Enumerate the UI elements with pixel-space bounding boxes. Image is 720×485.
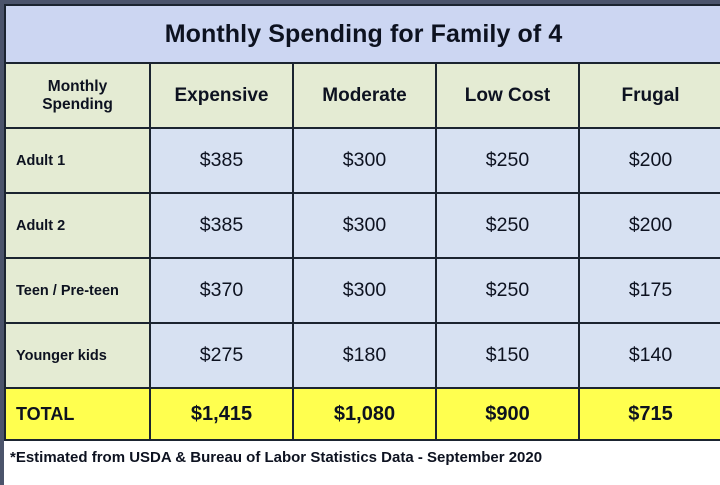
- cell-value: $200: [629, 149, 672, 171]
- header-cell-frugal: Frugal: [579, 63, 720, 128]
- cell-value: $370: [200, 279, 243, 301]
- cell-adult-2-expensive: $385: [150, 193, 293, 258]
- cell-value: $385: [200, 214, 243, 236]
- cell-value: $300: [343, 214, 386, 236]
- cell-younger-kids-low-cost: $150: [436, 323, 579, 388]
- table-total-row: TOTAL $1,415 $1,080 $900 $715: [5, 388, 720, 440]
- page-title: Monthly Spending for Family of 4: [165, 20, 563, 48]
- cell-younger-kids-moderate: $180: [293, 323, 436, 388]
- corner-header-line1: Monthly: [48, 78, 107, 95]
- row-label-text: Adult 1: [6, 153, 149, 169]
- table-title-row: Monthly Spending for Family of 4: [5, 5, 720, 63]
- table-row: Younger kids $275 $180 $150 $140: [5, 323, 720, 388]
- cell-value: $140: [629, 344, 672, 366]
- cell-adult-2-frugal: $200: [579, 193, 720, 258]
- cell-value: $250: [486, 279, 529, 301]
- corner-header-line2: Spending: [42, 96, 113, 113]
- header-label-moderate: Moderate: [322, 85, 406, 106]
- row-label-text: Younger kids: [6, 348, 149, 364]
- cell-value: $180: [343, 344, 386, 366]
- header-label-low-cost: Low Cost: [465, 85, 551, 106]
- spending-table-sheet: Monthly Spending for Family of 4 Monthly…: [4, 4, 720, 485]
- cell-value: $900: [485, 403, 530, 425]
- table-header-row: Monthly Spending Expensive Moderate Low …: [5, 63, 720, 128]
- row-label-text: Adult 2: [6, 218, 149, 234]
- cell-total-expensive: $1,415: [150, 388, 293, 440]
- row-label-adult-2: Adult 2: [5, 193, 150, 258]
- row-label-adult-1: Adult 1: [5, 128, 150, 193]
- cell-adult-2-low-cost: $250: [436, 193, 579, 258]
- cell-adult-1-moderate: $300: [293, 128, 436, 193]
- cell-teen-expensive: $370: [150, 258, 293, 323]
- cell-value: $300: [343, 279, 386, 301]
- cell-adult-2-moderate: $300: [293, 193, 436, 258]
- cell-adult-1-frugal: $200: [579, 128, 720, 193]
- cell-value: $300: [343, 149, 386, 171]
- cell-value: $250: [486, 149, 529, 171]
- table-row: Adult 2 $385 $300 $250 $200: [5, 193, 720, 258]
- cell-value: $1,415: [191, 403, 252, 425]
- header-cell-expensive: Expensive: [150, 63, 293, 128]
- cell-adult-1-expensive: $385: [150, 128, 293, 193]
- cell-value: $385: [200, 149, 243, 171]
- header-cell-moderate: Moderate: [293, 63, 436, 128]
- cell-value: $250: [486, 214, 529, 236]
- cell-value: $1,080: [334, 403, 395, 425]
- cell-teen-frugal: $175: [579, 258, 720, 323]
- cell-adult-1-low-cost: $250: [436, 128, 579, 193]
- cell-younger-kids-expensive: $275: [150, 323, 293, 388]
- screenshot-root: Monthly Spending for Family of 4 Monthly…: [0, 0, 720, 485]
- row-label-total: TOTAL: [5, 388, 150, 440]
- cell-teen-moderate: $300: [293, 258, 436, 323]
- cell-value: $175: [629, 279, 672, 301]
- cell-total-low-cost: $900: [436, 388, 579, 440]
- row-label-text: Teen / Pre-teen: [6, 283, 149, 299]
- table-title-cell: Monthly Spending for Family of 4: [5, 5, 720, 63]
- monthly-spending-table: Monthly Spending for Family of 4 Monthly…: [4, 4, 720, 441]
- header-label-frugal: Frugal: [621, 85, 679, 106]
- cell-value: $200: [629, 214, 672, 236]
- cell-total-moderate: $1,080: [293, 388, 436, 440]
- table-footnote: *Estimated from USDA & Bureau of Labor S…: [4, 441, 720, 466]
- cell-teen-low-cost: $250: [436, 258, 579, 323]
- header-label-expensive: Expensive: [175, 85, 269, 106]
- row-label-younger-kids: Younger kids: [5, 323, 150, 388]
- cell-total-frugal: $715: [579, 388, 720, 440]
- cell-value: $150: [486, 344, 529, 366]
- table-row: Teen / Pre-teen $370 $300 $250 $175: [5, 258, 720, 323]
- cell-value: $715: [628, 403, 673, 425]
- row-label-teen-pre-teen: Teen / Pre-teen: [5, 258, 150, 323]
- header-cell-corner: Monthly Spending: [5, 63, 150, 128]
- cell-value: $275: [200, 344, 243, 366]
- table-row: Adult 1 $385 $300 $250 $200: [5, 128, 720, 193]
- header-cell-low-cost: Low Cost: [436, 63, 579, 128]
- cell-younger-kids-frugal: $140: [579, 323, 720, 388]
- row-label-text: TOTAL: [6, 404, 149, 425]
